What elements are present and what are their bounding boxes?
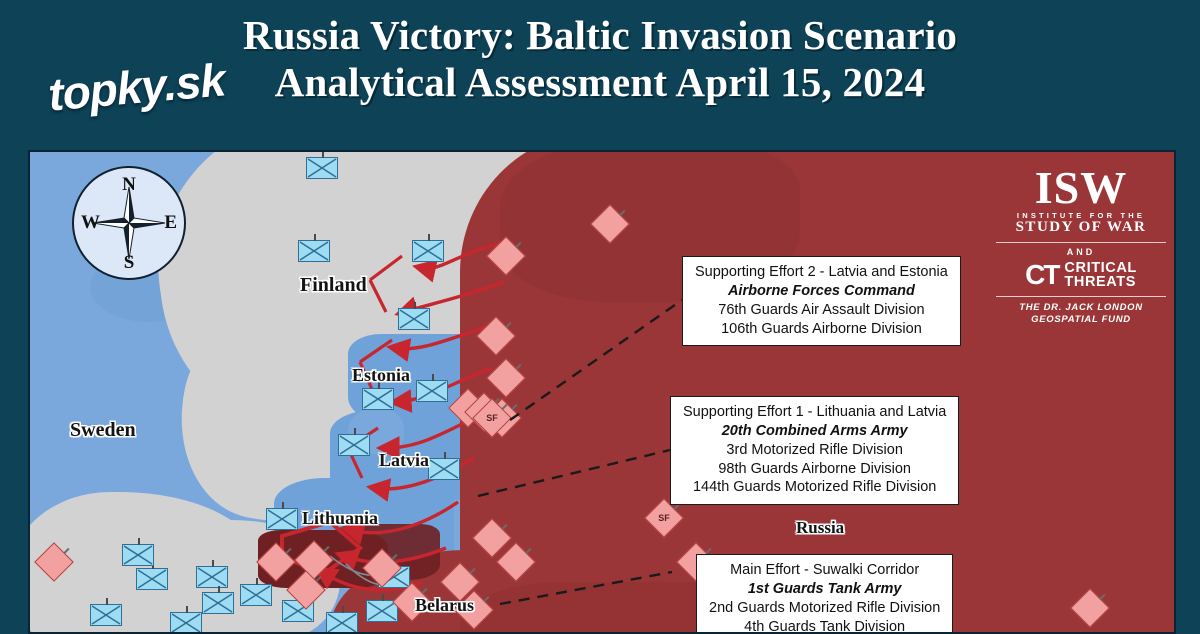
isw-and-label: AND <box>996 247 1166 257</box>
callout-unit: 98th Guards Airborne Division <box>683 460 946 479</box>
callout-header: Main Effort - Suwalki Corridor <box>709 561 940 580</box>
callout-supporting-effort-2[interactable]: Supporting Effort 2 - Latvia and Estonia… <box>682 256 961 346</box>
ct-wordmark: CRITICAL THREATS <box>1064 261 1136 291</box>
callout-header: Supporting Effort 2 - Latvia and Estonia <box>695 263 948 282</box>
callout-unit: 106th Guards Airborne Division <box>695 320 948 339</box>
callout-unit: 76th Guards Air Assault Division <box>695 301 948 320</box>
callout-header: Supporting Effort 1 - Lithuania and Latv… <box>683 403 946 422</box>
callout-command: 1st Guards Tank Army <box>709 580 940 599</box>
callout-command: Airborne Forces Command <box>695 282 948 301</box>
isw-subtitle-2: STUDY OF WAR <box>996 219 1166 236</box>
ct-monogram: CT <box>1025 261 1058 289</box>
ct-line-2: THREATS <box>1064 275 1136 290</box>
callout-unit: 2nd Guards Motorized Rifle Division <box>709 599 940 618</box>
map-panel[interactable]: SF SF Finland Sweden Estonia Latvia Lith… <box>28 150 1176 634</box>
callout-unit: 144th Guards Motorized Rifle Division <box>683 478 946 497</box>
fund-line-2: GEOSPATIAL FUND <box>996 314 1166 326</box>
callout-unit: 3rd Motorized Rifle Division <box>683 441 946 460</box>
critical-threats-row: CT CRITICAL THREATS <box>996 261 1166 291</box>
fund-line-1: THE DR. JACK LONDON <box>996 302 1166 314</box>
fund-credit: THE DR. JACK LONDON GEOSPATIAL FUND <box>996 302 1166 326</box>
callout-main-effort[interactable]: Main Effort - Suwalki Corridor 1st Guard… <box>696 554 953 634</box>
callout-command: 20th Combined Arms Army <box>683 422 946 441</box>
isw-logo: ISW INSTITUTE FOR THE STUDY OF WAR AND C… <box>996 166 1166 326</box>
logo-divider-2 <box>996 296 1166 297</box>
callout-unit: 4th Guards Tank Division <box>709 618 940 634</box>
logo-divider <box>996 242 1166 243</box>
ct-line-1: CRITICAL <box>1064 261 1136 276</box>
isw-wordmark: ISW <box>996 166 1166 210</box>
title-line-1: Russia Victory: Baltic Invasion Scenario <box>0 14 1200 57</box>
callout-supporting-effort-1[interactable]: Supporting Effort 1 - Lithuania and Latv… <box>670 396 959 505</box>
